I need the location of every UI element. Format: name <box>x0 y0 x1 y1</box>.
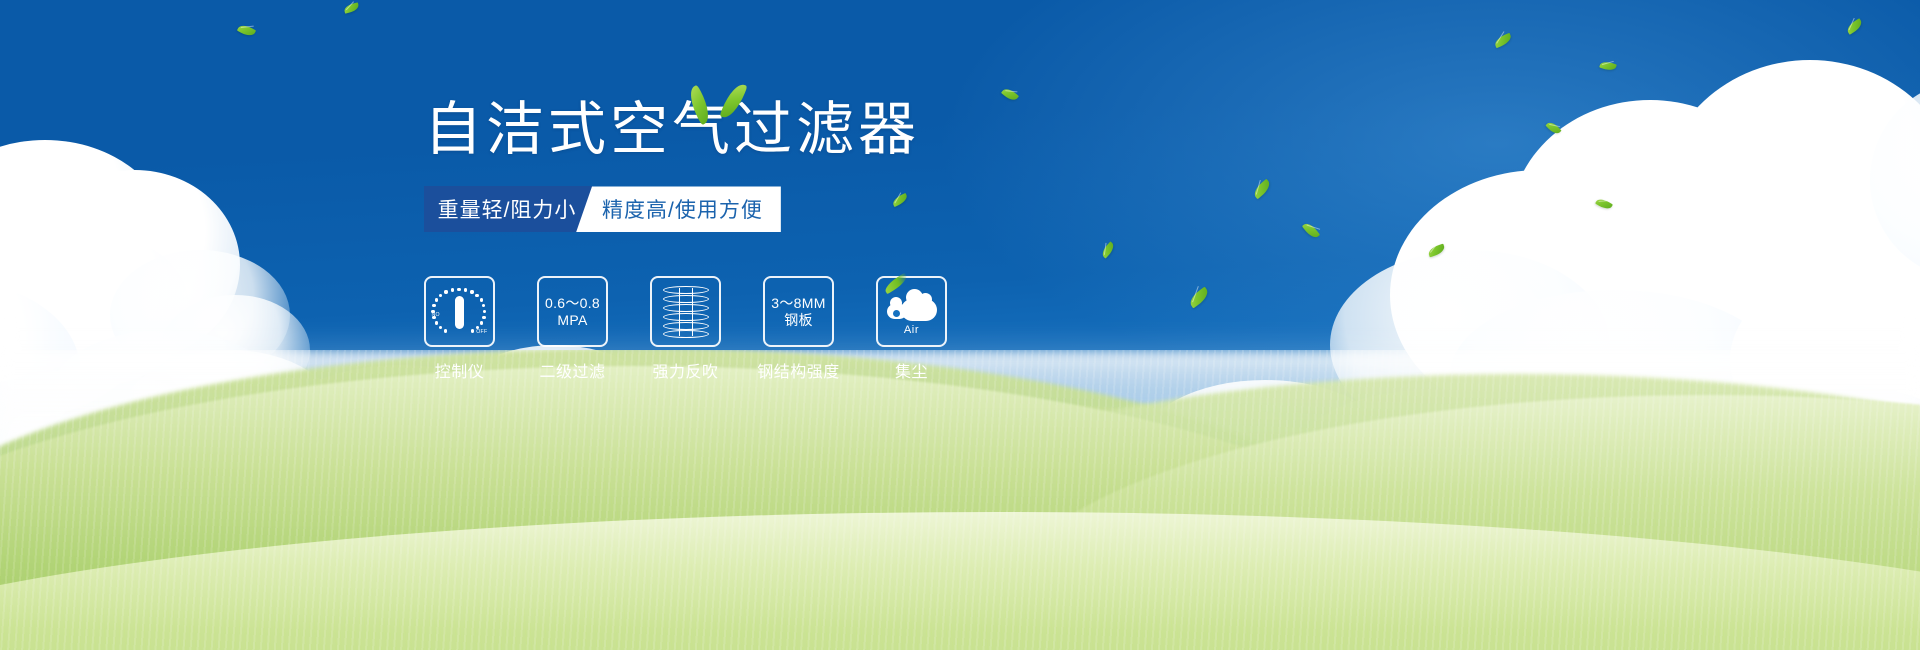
feature-caption: 钢结构强度 <box>757 358 840 382</box>
gauge-off-label: OFF <box>476 329 487 335</box>
gauge-icon: NO OFF <box>433 287 487 337</box>
feature-icon-box: 3～8MM 钢板 <box>763 276 834 347</box>
steel-line-2: 钢板 <box>771 312 825 329</box>
feature-caption: 控制仪 <box>435 358 485 382</box>
steel-plate-text-icon: 3～8MM 钢板 <box>771 295 825 329</box>
feature-icon-box: Air <box>876 276 947 347</box>
feature-item-backflush[interactable]: 强力反吹 <box>650 276 721 382</box>
filter-cartridge-icon <box>663 286 709 338</box>
air-label: Air <box>904 324 919 336</box>
feature-tabs: 重量轻/阻力小 精度高/使用方便 <box>424 186 749 232</box>
feature-caption: 集尘 <box>895 358 928 382</box>
gauge-on-label: NO <box>432 312 440 318</box>
feature-item-dust-collection[interactable]: Air 集尘 <box>876 276 947 382</box>
feature-caption: 二级过滤 <box>539 358 605 382</box>
pressure-line-1: 0.6～0.8 <box>545 295 600 312</box>
feature-icon-box: NO OFF <box>424 276 495 347</box>
banner-content: 自洁式空气过滤器 重量轻/阻力小 精度高/使用方便 <box>424 96 1144 382</box>
sprout-leaves-icon <box>692 82 752 128</box>
pressure-line-2: MPA <box>545 312 600 329</box>
product-banner: 自洁式空气过滤器 重量轻/阻力小 精度高/使用方便 <box>0 0 1920 650</box>
tab-weight-resistance[interactable]: 重量轻/阻力小 <box>424 186 592 232</box>
grass-field <box>0 350 1920 650</box>
feature-item-steel-strength[interactable]: 3～8MM 钢板 钢结构强度 <box>763 276 834 382</box>
feature-caption: 强力反吹 <box>652 358 718 382</box>
pressure-text-icon: 0.6～0.8 MPA <box>545 295 600 329</box>
page-title: 自洁式空气过滤器 <box>424 96 1144 164</box>
feature-item-controller[interactable]: NO OFF 控制仪 <box>424 276 495 382</box>
tab-precision-convenience[interactable]: 精度高/使用方便 <box>576 186 781 232</box>
leaf-streak-icon <box>882 273 909 294</box>
feature-icon-box <box>650 276 721 347</box>
feature-icon-box: 0.6～0.8 MPA <box>537 276 608 347</box>
feature-item-secondary-filtration[interactable]: 0.6～0.8 MPA 二级过滤 <box>537 276 608 382</box>
feature-list: NO OFF 控制仪 0.6～0.8 MPA 二级过滤 <box>424 276 1144 382</box>
steel-line-1: 3～8MM <box>771 295 825 312</box>
air-cloud-icon <box>887 287 937 321</box>
